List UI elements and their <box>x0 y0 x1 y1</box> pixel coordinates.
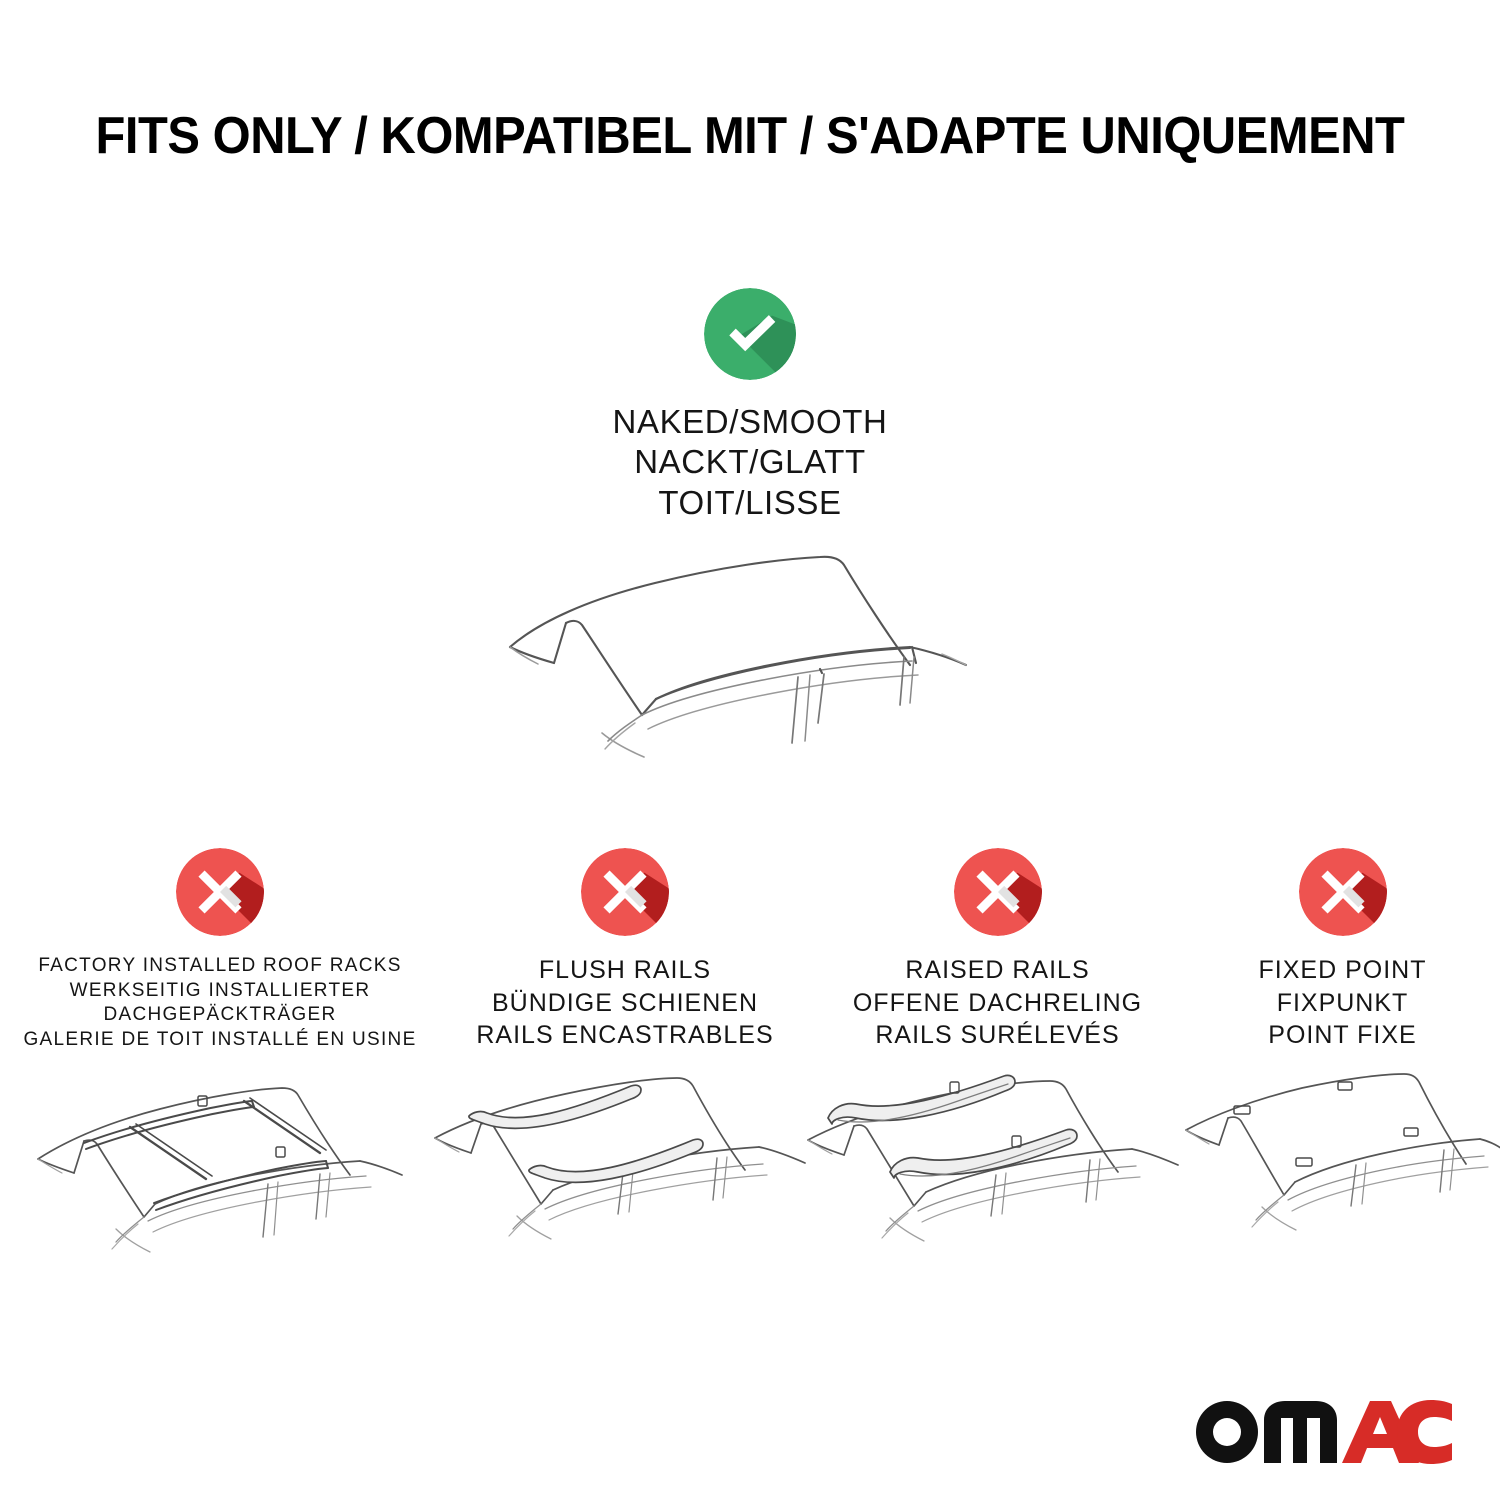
compatible-label-de: NACKT/GLATT <box>613 442 888 482</box>
check-circle-icon <box>704 288 796 380</box>
car-roof-fixed-point-illustration <box>1178 1068 1500 1268</box>
label-line-2: FIXPUNKT <box>1259 987 1427 1020</box>
label-line-1: RAISED RAILS <box>853 954 1142 987</box>
label-line-1: FIXED POINT <box>1259 954 1427 987</box>
x-circle-icon <box>1299 848 1387 936</box>
incompatible-item-flush-rails: FLUSH RAILS BÜNDIGE SCHIENEN RAILS ENCAS… <box>440 848 810 1268</box>
label-line-2: OFFENE DACHRELING <box>853 987 1142 1020</box>
label-line-3: RAILS SURÉLEVÉS <box>853 1019 1142 1052</box>
label-line-3: POINT FIXE <box>1259 1019 1427 1052</box>
x-circle-icon <box>954 848 1042 936</box>
compatible-label-en: NAKED/SMOOTH <box>613 402 888 442</box>
car-roof-flush-rails-illustration <box>425 1068 825 1268</box>
incompatible-item-raised-rails: RAISED RAILS OFFENE DACHRELING RAILS SUR… <box>810 848 1185 1268</box>
incompatible-section: FACTORY INSTALLED ROOF RACKS WERKSEITIG … <box>0 848 1500 1269</box>
x-circle-icon <box>581 848 669 936</box>
page-title: FITS ONLY / KOMPATIBEL MIT / S'ADAPTE UN… <box>45 106 1455 166</box>
label-line-2: WERKSEITIG INSTALLIERTER <box>23 979 416 1004</box>
label-line-4: GALERIE DE TOIT INSTALLÉ EN USINE <box>23 1028 416 1053</box>
incompatible-labels: FACTORY INSTALLED ROOF RACKS WERKSEITIG … <box>23 954 416 1053</box>
compatible-section: NAKED/SMOOTH NACKT/GLATT TOIT/LISSE <box>0 288 1500 797</box>
label-line-2: BÜNDIGE SCHIENEN <box>476 987 773 1020</box>
x-circle-icon <box>176 848 264 936</box>
car-roof-raised-rails-illustration <box>798 1068 1198 1268</box>
compatible-label-fr: TOIT/LISSE <box>613 483 888 523</box>
incompatible-labels: FLUSH RAILS BÜNDIGE SCHIENEN RAILS ENCAS… <box>476 954 773 1052</box>
car-roof-naked-smooth-illustration <box>480 537 1020 797</box>
car-roof-factory-rack-illustration <box>20 1069 420 1269</box>
label-line-1: FACTORY INSTALLED ROOF RACKS <box>23 954 416 979</box>
incompatible-item-factory-rack: FACTORY INSTALLED ROOF RACKS WERKSEITIG … <box>0 848 440 1269</box>
label-line-3: DACHGEPÄCKTRÄGER <box>23 1003 416 1028</box>
label-line-3: RAILS ENCASTRABLES <box>476 1019 773 1052</box>
compatible-labels: NAKED/SMOOTH NACKT/GLATT TOIT/LISSE <box>613 402 888 523</box>
label-line-1: FLUSH RAILS <box>476 954 773 987</box>
incompatible-labels: RAISED RAILS OFFENE DACHRELING RAILS SUR… <box>853 954 1142 1052</box>
compatibility-infographic: FITS ONLY / KOMPATIBEL MIT / S'ADAPTE UN… <box>0 0 1500 1500</box>
incompatible-labels: FIXED POINT FIXPUNKT POINT FIXE <box>1259 954 1427 1052</box>
incompatible-item-fixed-point: FIXED POINT FIXPUNKT POINT FIXE <box>1185 848 1500 1268</box>
omac-logo <box>1194 1390 1452 1466</box>
